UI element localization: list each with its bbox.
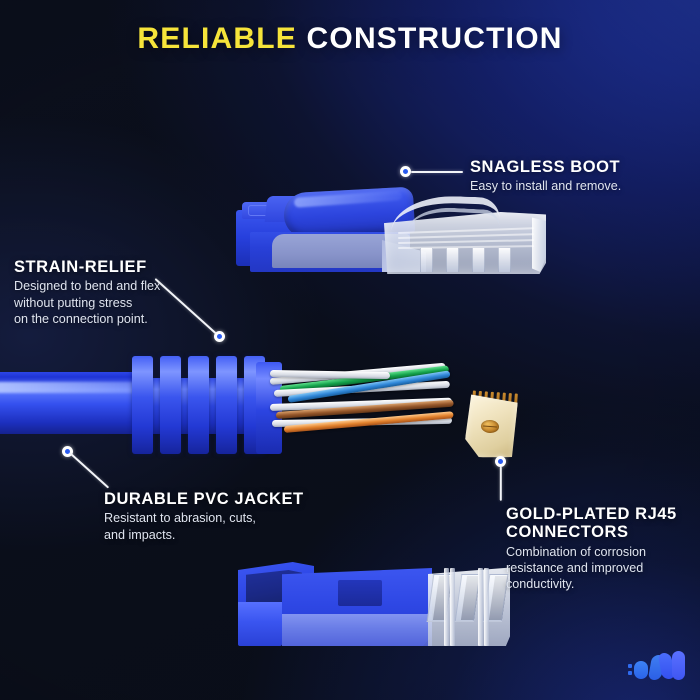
pvc-jacket-highlight	[0, 382, 140, 393]
callout-title: STRAIN-RELIEF	[14, 258, 160, 276]
contact-pin-1	[420, 248, 433, 272]
bottom-boot-lower-face	[282, 614, 432, 646]
strain-relief-fin	[188, 356, 209, 454]
strain-relief-boot	[132, 356, 280, 454]
callout-description: Designed to bend and flex without puttin…	[14, 278, 160, 326]
callout-desc-line: Resistant to abrasion, cuts,	[104, 510, 304, 526]
logo-bar-1	[634, 661, 648, 679]
title-rest: CONSTRUCTION	[307, 22, 563, 55]
callout-gold-connectors: GOLD-PLATED RJ45 CONNECTORS Combination …	[506, 505, 677, 592]
brand-logo[interactable]	[628, 650, 686, 684]
callout-description: Combination of corrosion resistance and …	[506, 544, 677, 592]
marker-gold-connectors[interactable]	[495, 456, 506, 467]
callout-pvc-jacket: DURABLE PVC JACKET Resistant to abrasion…	[104, 490, 304, 543]
callout-desc-line: on the connection point.	[14, 311, 160, 327]
callout-desc-line: Designed to bend and flex	[14, 278, 160, 294]
callout-description: Easy to install and remove.	[470, 178, 621, 194]
rj45-connector-top-illustration	[232, 188, 550, 280]
logo-dot-upper	[628, 664, 632, 668]
callout-snagless-boot: SNAGLESS BOOT Easy to install and remove…	[470, 158, 621, 195]
callout-title-line-1: GOLD-PLATED RJ45	[506, 505, 677, 523]
callout-desc-line: Combination of corrosion	[506, 544, 677, 560]
marker-snagless-boot[interactable]	[400, 166, 411, 177]
contact-pin-2	[446, 248, 459, 272]
infographic-canvas: RELIABLE CONSTRUCTION	[0, 0, 700, 700]
page-title: RELIABLE CONSTRUCTION	[0, 22, 700, 56]
callout-title: DURABLE PVC JACKET	[104, 490, 304, 508]
contact-pin-4	[498, 248, 511, 272]
title-highlight: RELIABLE	[137, 22, 297, 55]
callout-title: SNAGLESS BOOT	[470, 158, 621, 176]
callout-strain-relief: STRAIN-RELIEF Designed to bend and flex …	[14, 258, 160, 327]
callout-title-line-2: CONNECTORS	[506, 523, 677, 541]
bottom-boot-slot	[338, 580, 382, 606]
logo-bar-4	[672, 651, 685, 680]
callout-desc-line: without putting stress	[14, 295, 160, 311]
logo-dot-lower	[628, 671, 632, 675]
callout-desc-line: resistance and improved	[506, 560, 677, 576]
callout-desc-line: Easy to install and remove.	[470, 178, 621, 194]
leader-snagless-boot	[411, 171, 463, 173]
bottom-housing-rib	[478, 568, 483, 646]
leader-gold-connectors	[500, 467, 502, 501]
bottom-housing-rib	[444, 568, 449, 646]
bottom-boot-front-face	[238, 602, 282, 646]
callout-desc-line: conductivity.	[506, 576, 677, 592]
strain-relief-fin	[132, 356, 153, 454]
bottom-housing-rib	[450, 568, 455, 646]
strain-relief-fin	[216, 356, 237, 454]
callout-description: Resistant to abrasion, cuts, and impacts…	[104, 510, 304, 542]
callout-desc-line: and impacts.	[104, 527, 304, 543]
bottom-housing-rib	[484, 568, 489, 646]
rj45-connector-bottom-illustration	[238, 562, 512, 650]
strain-relief-fin	[160, 356, 181, 454]
contact-pin-3	[472, 248, 485, 272]
